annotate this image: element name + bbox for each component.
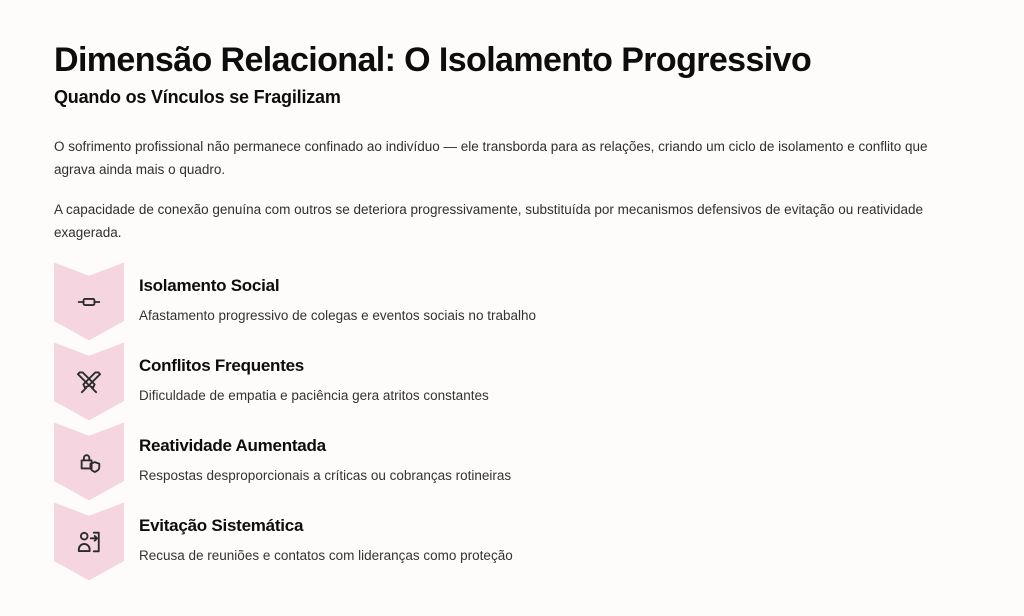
list-item-title: Reatividade Aumentada — [139, 436, 511, 456]
list-item-title: Conflitos Frequentes — [139, 356, 489, 376]
list-item-description: Afastamento progressivo de colegas e eve… — [139, 306, 536, 326]
list-item-body: Evitação Sistemática Recusa de reuniões … — [124, 502, 513, 565]
list-item-description: Recusa de reuniões e contatos com lidera… — [139, 546, 513, 566]
list-item: Reatividade Aumentada Respostas despropo… — [54, 422, 970, 502]
list-item-body: Isolamento Social Afastamento progressiv… — [124, 262, 536, 325]
crossed-swords-icon — [76, 367, 102, 395]
list-item-body: Reatividade Aumentada Respostas despropo… — [124, 422, 511, 485]
chevron-badge — [54, 342, 124, 420]
list-item-title: Isolamento Social — [139, 276, 536, 296]
list-item: Conflitos Frequentes Dificuldade de empa… — [54, 342, 970, 422]
symptom-list: Isolamento Social Afastamento progressiv… — [54, 262, 970, 582]
page-subtitle: Quando os Vínculos se Fragilizam — [54, 86, 970, 109]
link-break-icon — [76, 287, 102, 315]
chevron-badge — [54, 262, 124, 340]
chevron-badge — [54, 502, 124, 580]
list-item: Isolamento Social Afastamento progressiv… — [54, 262, 970, 342]
list-item-title: Evitação Sistemática — [139, 516, 513, 536]
person-exit-icon — [76, 527, 102, 555]
slide-root: Dimensão Relacional: O Isolamento Progre… — [0, 0, 1024, 616]
list-item-description: Respostas desproporcionais a críticas ou… — [139, 466, 511, 486]
page-title: Dimensão Relacional: O Isolamento Progre… — [54, 40, 970, 80]
chevron-badge — [54, 422, 124, 500]
list-item-description: Dificuldade de empatia e paciência gera … — [139, 386, 489, 406]
list-item-body: Conflitos Frequentes Dificuldade de empa… — [124, 342, 489, 405]
list-item: Evitação Sistemática Recusa de reuniões … — [54, 502, 970, 582]
intro-paragraph-2: A capacidade de conexão genuína com outr… — [54, 198, 970, 244]
lock-shield-icon — [76, 447, 102, 475]
intro-paragraph-1: O sofrimento profissional não permanece … — [54, 135, 970, 181]
